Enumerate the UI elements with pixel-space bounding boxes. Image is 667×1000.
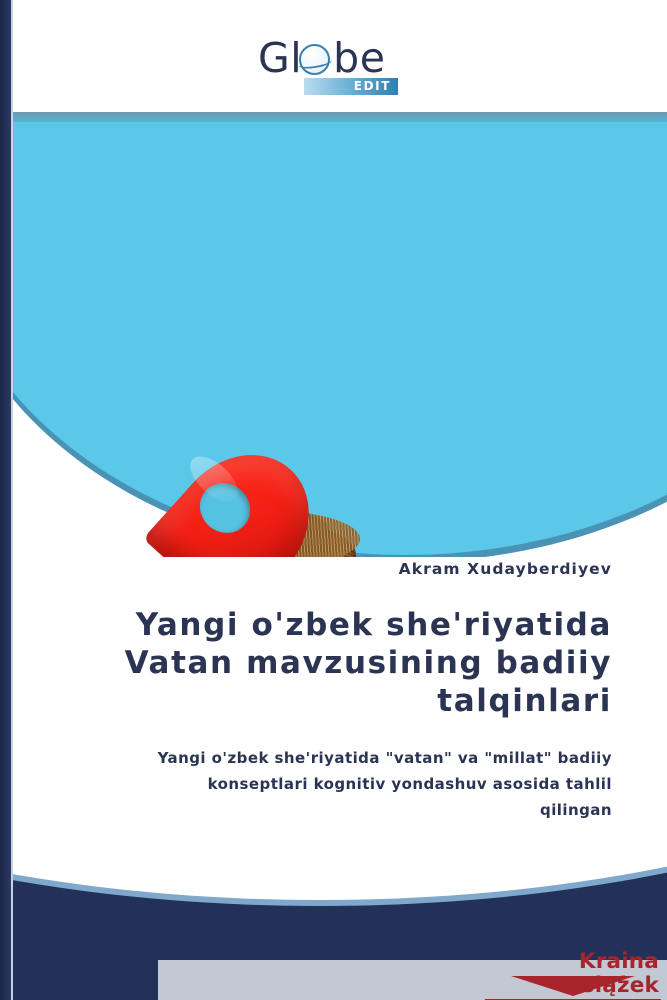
book-title-line-3: talqinlari bbox=[52, 682, 612, 720]
navy-band-ellipse-cut bbox=[0, 820, 667, 900]
publisher-logo-word-part2: be bbox=[333, 34, 385, 82]
book-subtitle-line-2: konseptlari kognitiv yondashuv asosida t… bbox=[92, 771, 612, 797]
cover-photo-panel bbox=[11, 112, 667, 557]
nest-with-pin-artwork bbox=[159, 450, 369, 557]
publisher-logo: Glbe EDIT bbox=[258, 38, 398, 96]
book-title: Yangi o'zbek she'riyatida Vatan mavzusin… bbox=[52, 606, 612, 720]
book-title-line-2: Vatan mavzusining badiiy bbox=[52, 644, 612, 682]
book-title-line-1: Yangi o'zbek she'riyatida bbox=[52, 606, 612, 644]
open-book-icon bbox=[511, 976, 635, 996]
publisher-logo-word-part1: Gl bbox=[258, 34, 302, 82]
globe-icon bbox=[299, 44, 330, 75]
spine-hairline bbox=[11, 0, 13, 1000]
book-subtitle: Yangi o'zbek she'riyatida "vatan" va "mi… bbox=[92, 745, 612, 823]
book-cover: Glbe EDIT Akram Xudayberdiyev Yangi o'zb… bbox=[0, 0, 667, 1000]
book-subtitle-line-3: qilingan bbox=[92, 797, 612, 823]
photo-panel-top-edge bbox=[11, 112, 667, 122]
author-name: Akram Xudayberdiyev bbox=[399, 560, 612, 578]
spine-strip bbox=[0, 0, 11, 1000]
kraina-ksiazek-watermark: Kraina Książek bbox=[485, 950, 661, 996]
publisher-logo-edit-badge: EDIT bbox=[304, 78, 398, 95]
book-subtitle-line-1: Yangi o'zbek she'riyatida "vatan" va "mi… bbox=[92, 745, 612, 771]
